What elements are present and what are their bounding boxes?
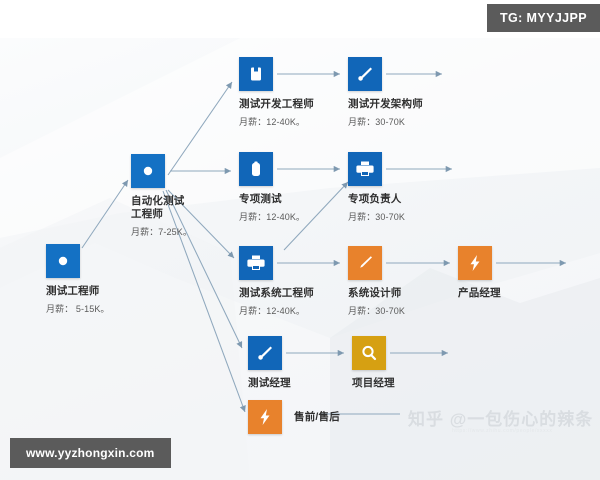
node-salary: 月薪：12-40K。 <box>239 115 314 128</box>
node-title: 测试开发工程师 <box>239 98 314 111</box>
zhihu-watermark-sub: https://www.zhihu.com/people/xxxxx <box>452 428 552 434</box>
printer-icon <box>348 152 382 186</box>
node-title: 自动化测试工程师 <box>131 195 193 221</box>
node-title: 售前/售后 <box>294 411 340 424</box>
node-specialized-lead[interactable]: 专项负责人 月薪：30-70K <box>348 152 405 223</box>
node-test-engineer[interactable]: 测试工程师 月薪： 5-15K。 <box>46 244 110 315</box>
node-salary: 月薪：7-25K。 <box>131 225 193 238</box>
book-icon <box>239 57 273 91</box>
telegram-badge: TG: MYYJJPP <box>487 4 600 32</box>
node-test-dev-engineer[interactable]: 测试开发工程师 月薪：12-40K。 <box>239 57 314 128</box>
key-icon <box>248 336 282 370</box>
node-test-dev-architect[interactable]: 测试开发架构师 月薪：30-70K <box>348 57 423 128</box>
node-product-manager[interactable]: 产品经理 <box>458 246 501 300</box>
node-title: 测试经理 <box>248 377 291 390</box>
search-icon <box>352 336 386 370</box>
pen-icon <box>348 246 382 280</box>
node-salary: 月薪：30-70K <box>348 304 405 317</box>
node-title: 专项测试 <box>239 193 305 206</box>
diagram-stage: 测试工程师 月薪： 5-15K。 自动化测试工程师 月薪：7-25K。 测试开发… <box>0 0 600 480</box>
node-title: 测试系统工程师 <box>239 287 314 300</box>
edge-test-engineer-to-automation <box>82 180 128 248</box>
dot-icon <box>131 154 165 188</box>
battery-icon <box>239 152 273 186</box>
node-salary: 月薪：12-40K。 <box>239 210 305 223</box>
dot-icon <box>46 244 80 278</box>
node-salary: 月薪：30-70K <box>348 210 405 223</box>
bolt-icon <box>458 246 492 280</box>
node-system-designer[interactable]: 系统设计师 月薪：30-70K <box>348 246 405 317</box>
node-salary: 月薪：30-70K <box>348 115 423 128</box>
website-badge: www.yyzhongxin.com <box>10 438 171 468</box>
node-title: 专项负责人 <box>348 193 405 206</box>
printer-icon <box>239 246 273 280</box>
node-salary: 月薪： 5-15K。 <box>46 302 110 315</box>
node-title: 项目经理 <box>352 377 395 390</box>
key-icon <box>348 57 382 91</box>
node-project-manager[interactable]: 项目经理 <box>352 336 395 390</box>
node-title: 测试工程师 <box>46 285 110 298</box>
node-test-manager[interactable]: 测试经理 <box>248 336 291 390</box>
zhihu-watermark: 知乎 @一包伤心的辣条 <box>408 405 593 430</box>
bolt-icon <box>248 400 282 434</box>
node-title: 系统设计师 <box>348 287 405 300</box>
node-test-system-engineer[interactable]: 测试系统工程师 月薪：12-40K。 <box>239 246 314 317</box>
node-title: 测试开发架构师 <box>348 98 423 111</box>
node-automation-test-engineer[interactable]: 自动化测试工程师 月薪：7-25K。 <box>131 154 193 238</box>
node-salary: 月薪：12-40K。 <box>239 304 314 317</box>
node-title: 产品经理 <box>458 287 501 300</box>
node-specialized-test[interactable]: 专项测试 月薪：12-40K。 <box>239 152 305 223</box>
node-presales-postsales[interactable]: 售前/售后 <box>248 400 340 434</box>
